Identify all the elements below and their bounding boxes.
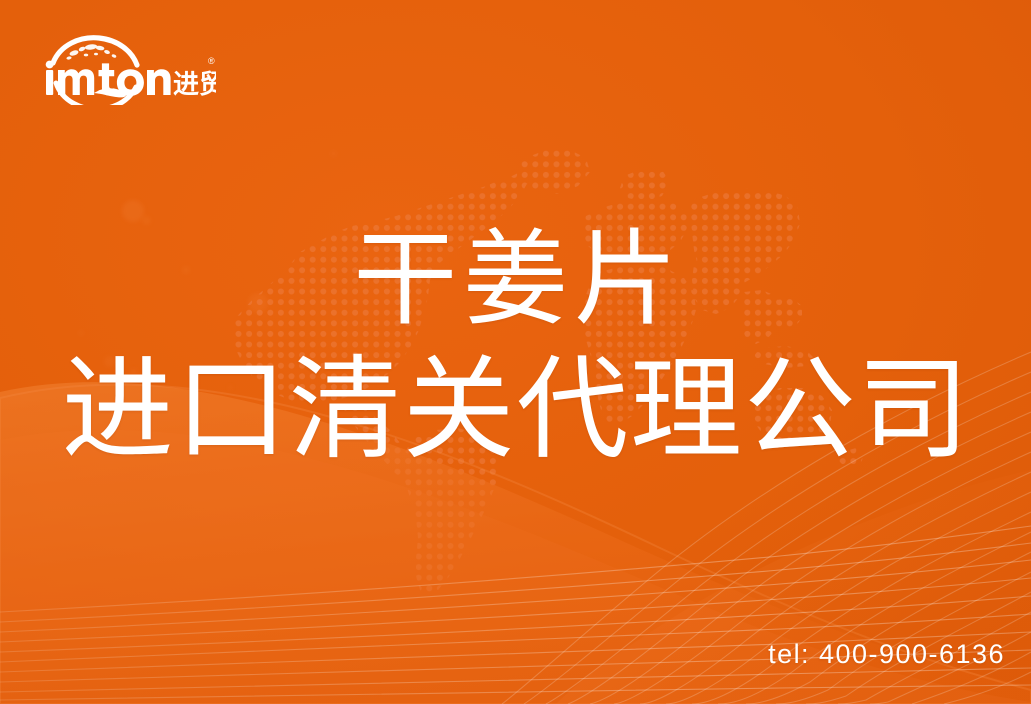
globe-dotted-icon (53, 38, 137, 65)
contact-phone[interactable]: tel: 400-900-6136 (768, 639, 1005, 670)
trademark-icon: ® (208, 56, 215, 66)
headline-line-2: 进口清关代理公司 (0, 354, 1031, 466)
logo-chinese-name: 进贸通 (173, 69, 216, 99)
company-logo[interactable]: 进贸通 ® (36, 33, 216, 105)
headline-line-1: 干姜片 (0, 228, 1031, 332)
headline-block: 干姜片 进口清关代理公司 (0, 228, 1031, 466)
poster-canvas: 进贸通 ® 干姜片 进口清关代理公司 tel: 400-900-6136 (0, 0, 1031, 704)
